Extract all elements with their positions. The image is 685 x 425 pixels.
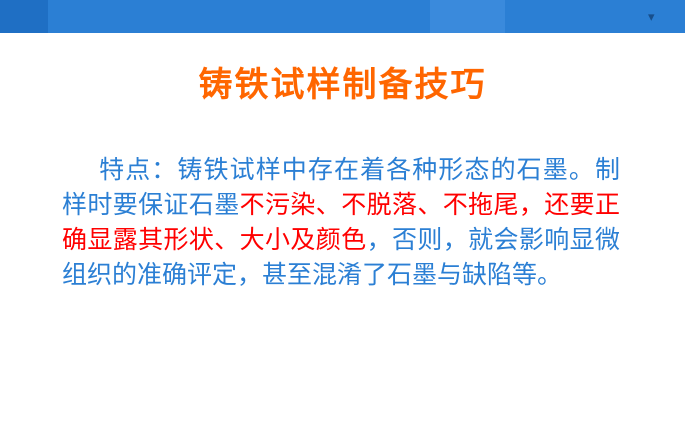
header-band-accent-block <box>430 0 505 33</box>
header-band: ▾ <box>0 0 685 33</box>
page-title: 铸铁试样制备技巧 <box>0 57 685 106</box>
slide-canvas: ▾ 铸铁试样制备技巧 特点：铸铁试样中存在着各种形态的石墨。制样时要保证石墨不污… <box>0 0 685 425</box>
header-band-left-block <box>0 0 48 33</box>
chevron-down-icon: ▾ <box>648 11 657 22</box>
body-paragraph: 特点：铸铁试样中存在着各种形态的石墨。制样时要保证石墨不污染、不脱落、不拖尾，还… <box>62 152 620 292</box>
body-lead-text: 特点：铸铁试样中存在着各种形态的石 <box>98 155 543 184</box>
